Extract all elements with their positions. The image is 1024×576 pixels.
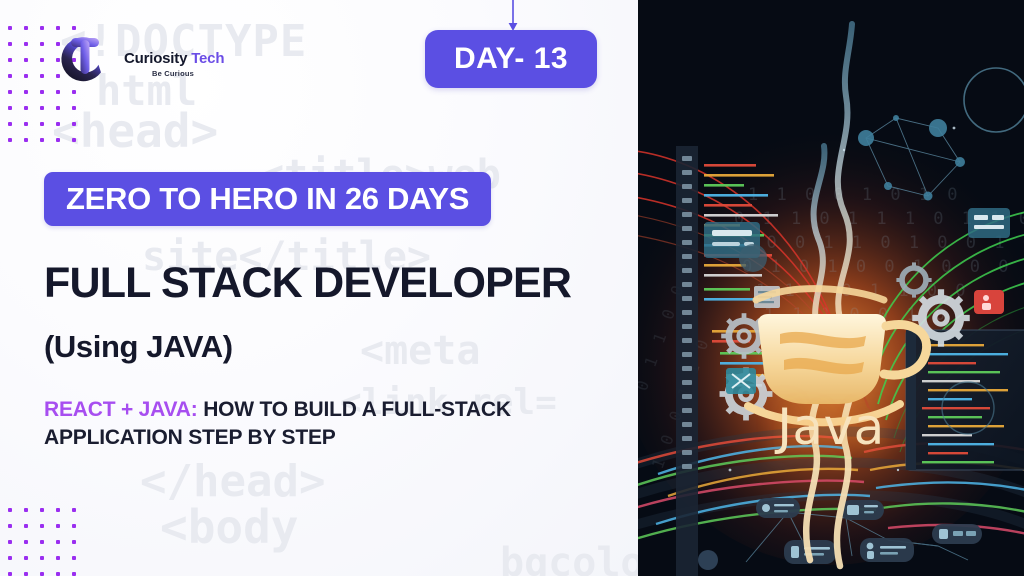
decor-dot	[56, 90, 60, 94]
decor-dot	[8, 540, 12, 544]
topic-description-highlight: REACT + JAVA:	[44, 398, 198, 421]
decor-dot	[72, 572, 76, 576]
decor-dot	[56, 540, 60, 544]
decor-dot	[8, 138, 12, 142]
decor-dot	[8, 90, 12, 94]
decor-dot	[56, 524, 60, 528]
decor-dot	[56, 106, 60, 110]
curiosity-tech-c-t-monogram-icon	[52, 26, 116, 90]
decor-dot	[56, 572, 60, 576]
course-duration-banner: ZERO TO HERO IN 26 DAYS	[44, 172, 491, 226]
watermark-line: <head>	[52, 104, 218, 158]
decor-dot	[8, 106, 12, 110]
decor-dot	[72, 122, 76, 126]
day-badge-label: DAY- 13	[454, 42, 568, 76]
decor-dot	[56, 556, 60, 560]
decor-dot	[8, 26, 12, 30]
decor-dot	[24, 122, 28, 126]
decor-dot	[56, 508, 60, 512]
decor-dot	[8, 122, 12, 126]
java-wordmark: Java	[638, 398, 1024, 456]
decor-dot	[72, 90, 76, 94]
decor-dot	[56, 138, 60, 142]
poster-canvas: <!DOCTYPE html <head> <title>web site</t…	[0, 0, 1024, 576]
decor-dot	[24, 26, 28, 30]
brand-tagline: Be Curious	[152, 69, 224, 78]
decor-dot	[40, 540, 44, 544]
decor-dot	[72, 508, 76, 512]
decor-dot	[8, 556, 12, 560]
decor-dot	[24, 106, 28, 110]
decor-dot	[24, 508, 28, 512]
decor-dot	[72, 556, 76, 560]
day-badge[interactable]: DAY- 13	[425, 30, 597, 88]
page-title: FULL STACK DEVELOPER	[44, 262, 571, 305]
decor-dot	[24, 524, 28, 528]
left-content-panel: <!DOCTYPE html <head> <title>web site</t…	[0, 0, 638, 576]
decor-dot	[24, 90, 28, 94]
decor-dot	[40, 42, 44, 46]
decor-dot	[40, 26, 44, 30]
decor-dot	[40, 508, 44, 512]
brand-name-primary: Curiosity	[124, 50, 187, 67]
decor-dot	[24, 556, 28, 560]
decor-dot	[8, 508, 12, 512]
decor-dot	[24, 42, 28, 46]
decor-dot	[24, 540, 28, 544]
brand-logo-text: Curiosity Tech Be Curious	[124, 39, 224, 78]
decor-dot	[40, 74, 44, 78]
decor-dot	[24, 138, 28, 142]
svg-text:0 1 0 1 0 0 1 0 0 0 7 0: 0 1 0 1 0 0 1 0 0 0 7 0	[742, 257, 1024, 277]
course-duration-label: ZERO TO HERO IN 26 DAYS	[66, 181, 469, 217]
brand-name: Curiosity Tech	[124, 51, 224, 66]
decor-dot	[40, 572, 44, 576]
watermark-line: </head>	[140, 456, 325, 507]
decor-dot	[8, 58, 12, 62]
decor-dot	[8, 524, 12, 528]
watermark-line: bgcolor="	[500, 540, 638, 576]
decor-dot	[40, 122, 44, 126]
decor-dot	[72, 138, 76, 142]
decor-dot	[40, 58, 44, 62]
decor-dot	[40, 90, 44, 94]
decor-dot	[8, 74, 12, 78]
decor-dot	[24, 74, 28, 78]
brand-name-accent: Tech	[191, 50, 224, 67]
decor-dot	[8, 572, 12, 576]
decor-dot	[72, 540, 76, 544]
topic-description: REACT + JAVA: HOW TO BUILD A FULL-STACK …	[44, 396, 624, 452]
java-artwork-panel: 1 1 0 0 1 0 1 0 0 1 1 0 1 1 1 0 1 1 0 1 …	[638, 0, 1024, 576]
decor-dot	[40, 106, 44, 110]
decor-dot	[24, 58, 28, 62]
watermark-line: <meta	[360, 328, 480, 374]
arrow-down-icon	[505, 0, 521, 34]
decor-dot	[72, 106, 76, 110]
watermark-line: <body	[160, 500, 298, 554]
decor-dot	[72, 524, 76, 528]
java-coffee-cup-tech-illustration-icon: 1 1 0 0 1 0 1 0 0 1 1 0 1 1 1 0 1 1 0 1 …	[638, 0, 1024, 576]
decor-dot	[24, 572, 28, 576]
decor-dot	[40, 524, 44, 528]
decor-dot	[40, 138, 44, 142]
decor-dot	[40, 556, 44, 560]
decor-dot	[8, 42, 12, 46]
decor-dot	[56, 122, 60, 126]
brand-logo: Curiosity Tech Be Curious	[52, 26, 224, 90]
page-subtitle: (Using JAVA)	[44, 331, 233, 362]
